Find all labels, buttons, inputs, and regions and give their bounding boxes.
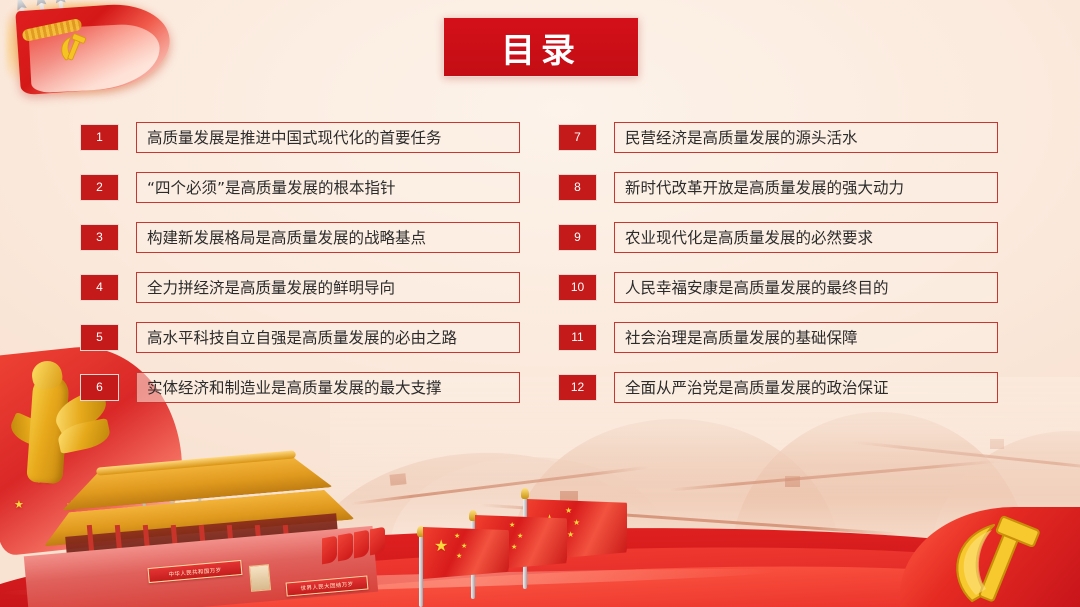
item-label: “四个必须”是高质量发展的根本指针 <box>147 176 396 198</box>
item-label: 民营经济是高质量发展的源头活水 <box>625 126 858 148</box>
item-label: 人民幸福安康是高质量发展的最终目的 <box>625 276 889 298</box>
item-number-badge: 1 <box>80 124 119 151</box>
item-box[interactable]: 全面从严治党是高质量发展的政治保证 <box>614 372 998 403</box>
list-item[interactable]: 5 高水平科技自立自强是高质量发展的必由之路 <box>80 312 520 362</box>
gate-portrait <box>249 564 271 592</box>
item-label: 农业现代化是高质量发展的必然要求 <box>625 226 873 248</box>
list-item[interactable]: 6 实体经济和制造业是高质量发展的最大支撑 <box>80 362 520 412</box>
item-number-badge: 7 <box>558 124 597 151</box>
hammer-sickle-icon <box>942 509 1062 605</box>
item-number-badge: 5 <box>80 324 119 351</box>
party-flag-icon <box>0 0 200 108</box>
list-item[interactable]: 7 民营经济是高质量发展的源头活水 <box>558 112 998 162</box>
item-label: 高质量发展是推进中国式现代化的首要任务 <box>147 126 442 148</box>
item-number-badge: 6 <box>80 374 119 401</box>
contents-right-column: 7 民营经济是高质量发展的源头活水 8 新时代改革开放是高质量发展的强大动力 9… <box>558 112 998 412</box>
list-item[interactable]: 1 高质量发展是推进中国式现代化的首要任务 <box>80 112 520 162</box>
item-label: 全面从严治党是高质量发展的政治保证 <box>625 376 889 398</box>
list-item[interactable]: 9 农业现代化是高质量发展的必然要求 <box>558 212 998 262</box>
list-item[interactable]: 4 全力拼经济是高质量发展的鲜明导向 <box>80 262 520 312</box>
item-label: 高水平科技自立自强是高质量发展的必由之路 <box>147 326 457 348</box>
item-label: 社会治理是高质量发展的基础保障 <box>625 326 858 348</box>
list-item[interactable]: 11 社会治理是高质量发展的基础保障 <box>558 312 998 362</box>
hammer-sickle-icon <box>50 24 101 75</box>
cpc-hammer-sickle-emblem-icon <box>910 507 1080 607</box>
page-title-text: 目录 <box>501 23 581 72</box>
item-box[interactable]: 人民幸福安康是高质量发展的最终目的 <box>614 272 998 303</box>
item-number-badge: 9 <box>558 224 597 251</box>
item-box[interactable]: 实体经济和制造业是高质量发展的最大支撑 <box>136 372 520 403</box>
item-box[interactable]: 高水平科技自立自强是高质量发展的必由之路 <box>136 322 520 353</box>
item-number-badge: 10 <box>558 274 597 301</box>
page-title: 目录 <box>443 17 639 77</box>
list-item[interactable]: 2 “四个必须”是高质量发展的根本指针 <box>80 162 520 212</box>
list-item[interactable]: 12 全面从严治党是高质量发展的政治保证 <box>558 362 998 412</box>
list-item[interactable]: 8 新时代改革开放是高质量发展的强大动力 <box>558 162 998 212</box>
list-item[interactable]: 10 人民幸福安康是高质量发展的最终目的 <box>558 262 998 312</box>
slide-canvas: ★ ★ ★ 中华人民共和国万岁 世界人民大团结万岁 <box>0 0 1080 607</box>
item-number-badge: 4 <box>80 274 119 301</box>
item-box[interactable]: 农业现代化是高质量发展的必然要求 <box>614 222 998 253</box>
item-box[interactable]: 全力拼经济是高质量发展的鲜明导向 <box>136 272 520 303</box>
item-box[interactable]: 构建新发展格局是高质量发展的战略基点 <box>136 222 520 253</box>
item-box[interactable]: 新时代改革开放是高质量发展的强大动力 <box>614 172 998 203</box>
item-box[interactable]: 高质量发展是推进中国式现代化的首要任务 <box>136 122 520 153</box>
item-number-badge: 8 <box>558 174 597 201</box>
item-number-badge: 2 <box>80 174 119 201</box>
item-box[interactable]: “四个必须”是高质量发展的根本指针 <box>136 172 520 203</box>
item-label: 实体经济和制造业是高质量发展的最大支撑 <box>147 376 442 398</box>
contents-left-column: 1 高质量发展是推进中国式现代化的首要任务 2 “四个必须”是高质量发展的根本指… <box>80 112 520 412</box>
item-label: 构建新发展格局是高质量发展的战略基点 <box>147 226 426 248</box>
item-box[interactable]: 民营经济是高质量发展的源头活水 <box>614 122 998 153</box>
china-national-flag-icon: ★ ★ ★ ★ ★ ★ ★ ★ ★ ★ ★ ★ <box>415 498 665 603</box>
item-label: 全力拼经济是高质量发展的鲜明导向 <box>147 276 395 298</box>
item-number-badge: 3 <box>80 224 119 251</box>
item-label: 新时代改革开放是高质量发展的强大动力 <box>625 176 904 198</box>
list-item[interactable]: 3 构建新发展格局是高质量发展的战略基点 <box>80 212 520 262</box>
item-box[interactable]: 社会治理是高质量发展的基础保障 <box>614 322 998 353</box>
item-number-badge: 12 <box>558 374 597 401</box>
item-number-badge: 11 <box>558 324 597 351</box>
